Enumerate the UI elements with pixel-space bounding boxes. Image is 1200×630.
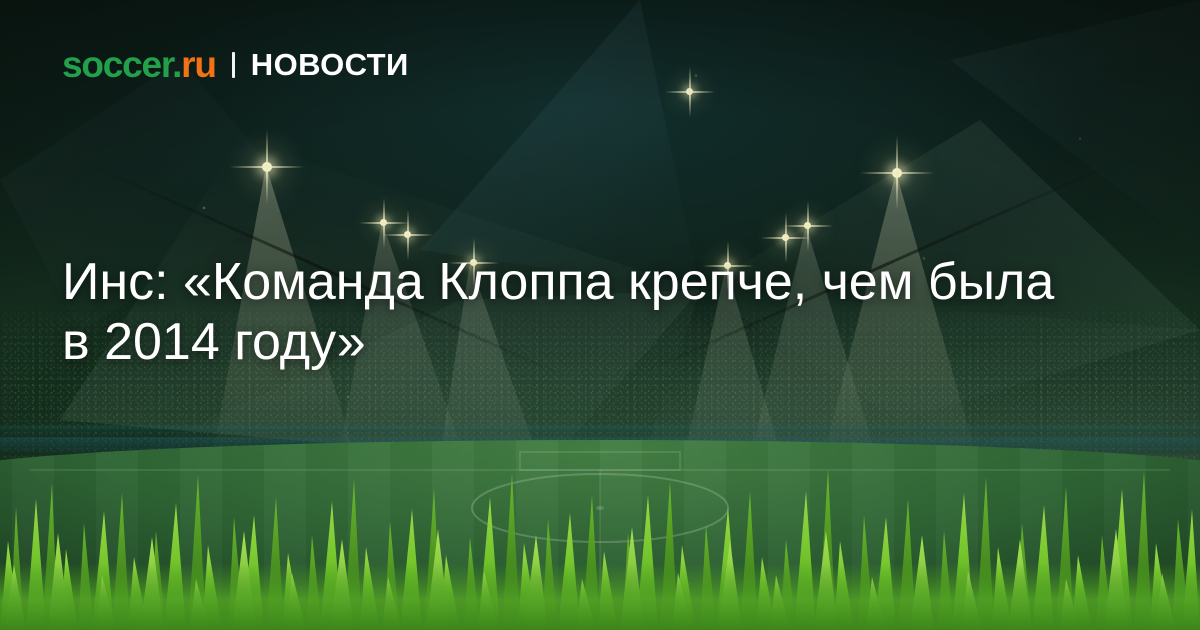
section-label-news[interactable]: НОВОСТИ: [251, 49, 409, 80]
article-cover-card: soccer.ru НОВОСТИ Инс: «Команда Клоппа к…: [0, 0, 1200, 630]
logo-dot: .: [172, 44, 181, 85]
article-headline: Инс: «Команда Клоппа крепче, чем была в …: [62, 252, 1092, 373]
header-separator: [232, 52, 235, 78]
soccer-ru-logo[interactable]: soccer.ru: [62, 46, 216, 83]
logo-word-soccer: soccer: [62, 44, 172, 85]
logo-word-ru: ru: [181, 44, 216, 85]
site-header: soccer.ru НОВОСТИ: [62, 46, 409, 83]
foreground-grass: [0, 445, 1200, 630]
